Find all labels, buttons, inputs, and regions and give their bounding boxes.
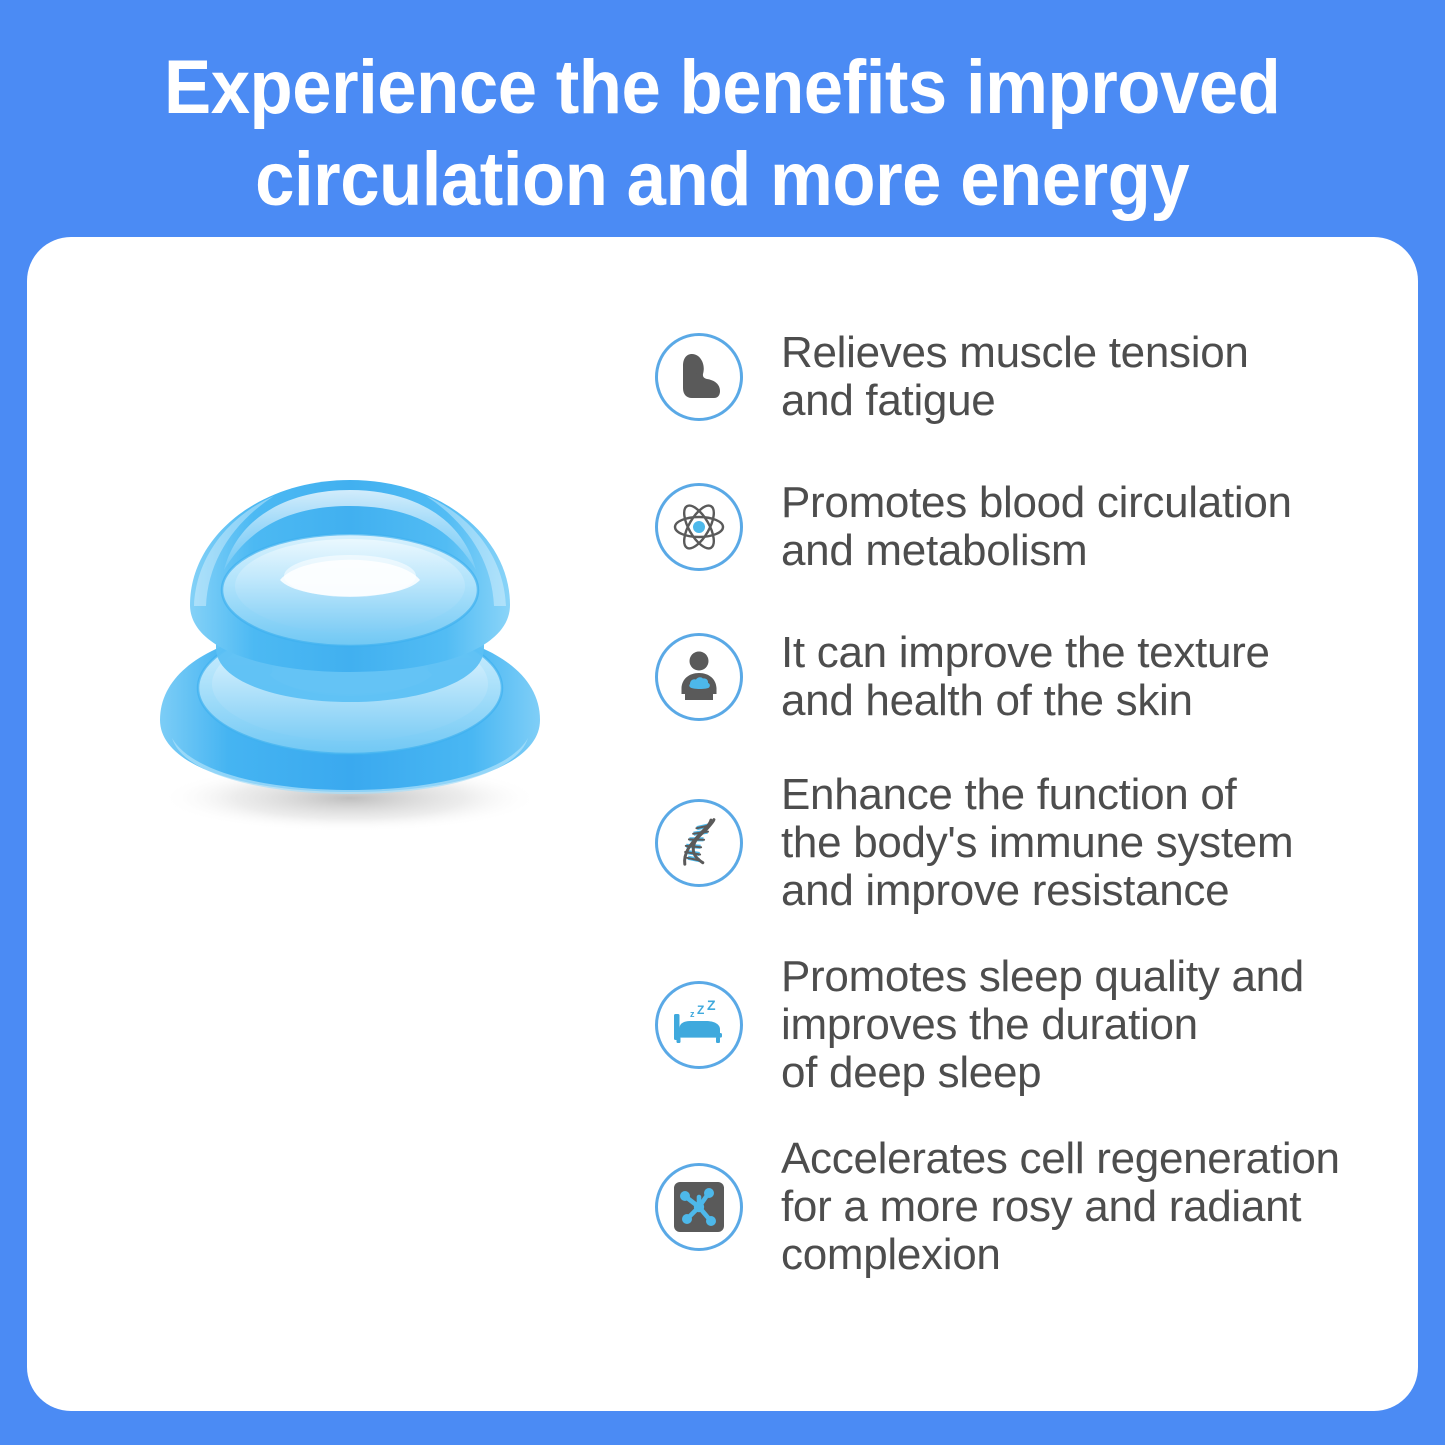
- silicone-cupping-cup-illustration: [120, 420, 580, 840]
- page-header: Experience the benefits improved circula…: [0, 0, 1445, 237]
- person-skin-icon: [655, 633, 743, 721]
- benefits-list: Relieves muscle tension and fatigue Prom…: [655, 313, 1415, 1287]
- benefit-label: Accelerates cell regeneration for a more…: [781, 1135, 1340, 1279]
- benefit-item: Enhance the function of the body's immun…: [655, 763, 1415, 923]
- benefit-item: Accelerates cell regeneration for a more…: [655, 1127, 1415, 1287]
- svg-text:z: z: [690, 1009, 695, 1019]
- benefit-item: Promotes blood circulation and metabolis…: [655, 463, 1415, 591]
- benefit-label: Promotes blood circulation and metabolis…: [781, 479, 1292, 575]
- svg-text:Z: Z: [707, 1000, 716, 1013]
- infographic-page: Experience the benefits improved circula…: [0, 0, 1445, 1445]
- sleep-bed-icon: z Z Z: [655, 981, 743, 1069]
- benefit-item: It can improve the texture and health of…: [655, 613, 1415, 741]
- atom-icon: [655, 483, 743, 571]
- benefit-label: It can improve the texture and health of…: [781, 629, 1270, 725]
- benefit-label: Promotes sleep quality and improves the …: [781, 953, 1304, 1097]
- benefit-item: Relieves muscle tension and fatigue: [655, 313, 1415, 441]
- svg-text:Z: Z: [697, 1003, 704, 1017]
- benefit-label: Relieves muscle tension and fatigue: [781, 329, 1249, 425]
- product-image: [90, 350, 610, 910]
- page-title-line-2: circulation and more energy: [255, 134, 1189, 226]
- page-title-line-1: Experience the benefits improved: [164, 42, 1280, 134]
- benefit-item: z Z Z Promotes sleep quality and improve…: [655, 945, 1415, 1105]
- benefit-label: Enhance the function of the body's immun…: [781, 771, 1293, 915]
- molecule-cell-icon: [655, 1163, 743, 1251]
- bicep-icon: [655, 333, 743, 421]
- dna-icon: [655, 799, 743, 887]
